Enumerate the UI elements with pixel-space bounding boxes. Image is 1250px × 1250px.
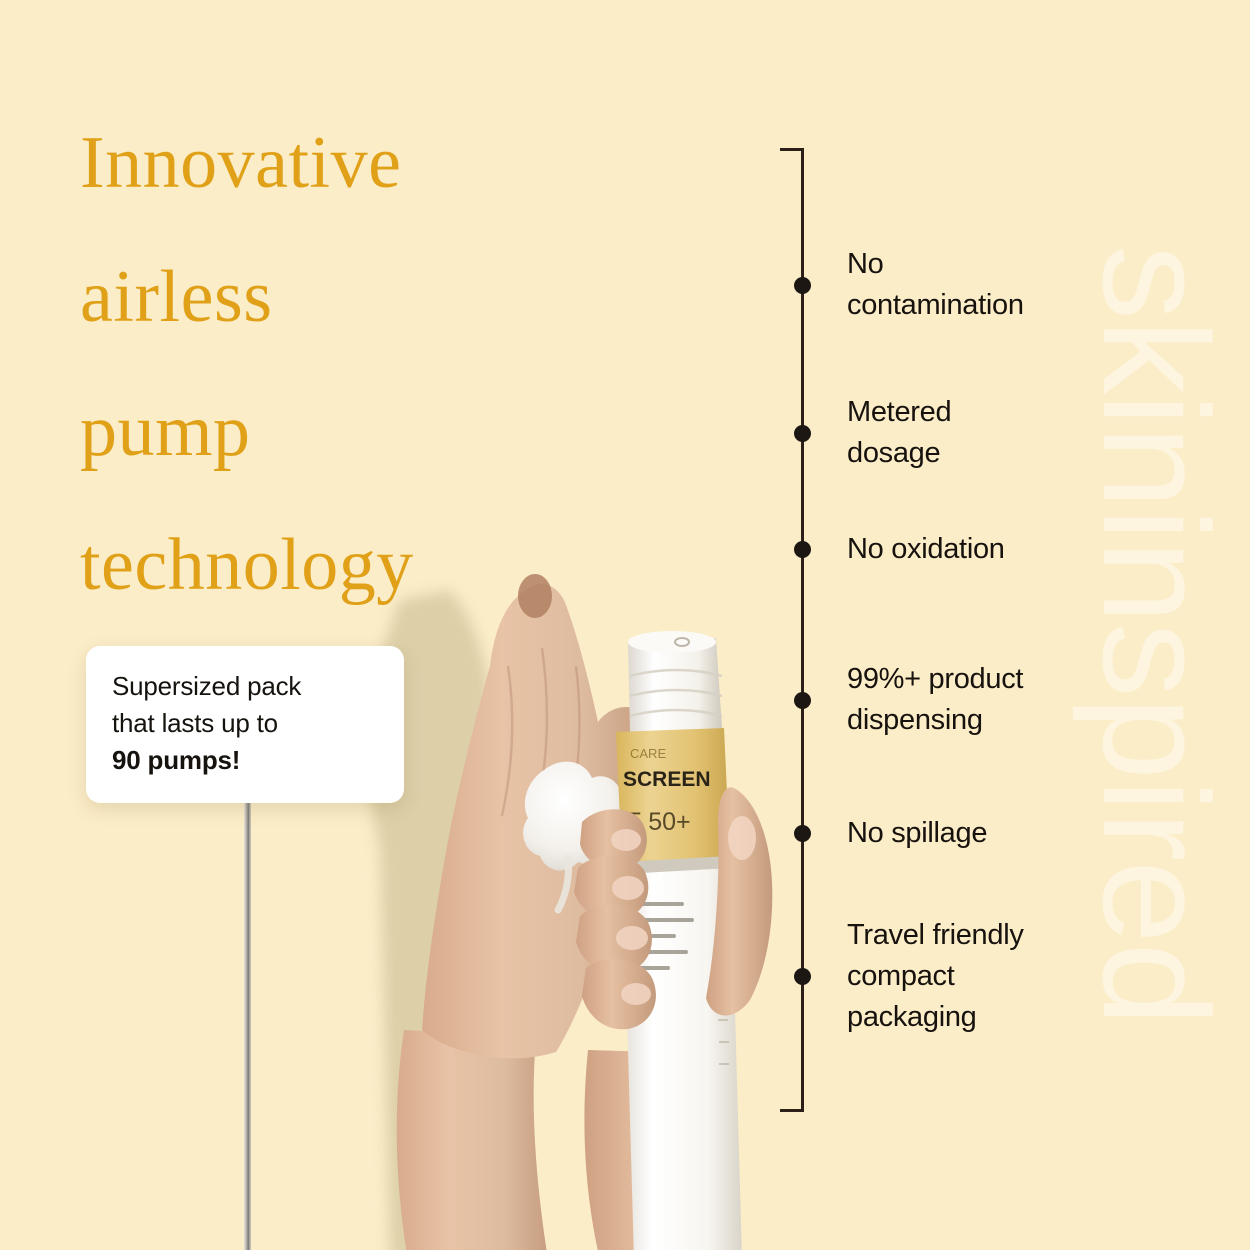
feature-item-no-contamination: No contamination	[780, 244, 1024, 326]
callout-line-1: Supersized pack	[112, 671, 301, 701]
feature-label: 99%+ product dispensing	[847, 659, 1023, 741]
feature-label: No spillage	[847, 813, 987, 854]
thumb-nail	[518, 574, 552, 618]
thumb-nail-right	[728, 816, 756, 860]
left-forearm	[397, 1030, 548, 1250]
callout-text: Supersized pack that lasts up to 90 pump…	[112, 668, 380, 779]
callout-card: Supersized pack that lasts up to 90 pump…	[86, 646, 404, 803]
feature-label: Metered dosage	[847, 392, 951, 474]
feature-label: No contamination	[847, 244, 1024, 326]
bullet-dot-icon	[794, 277, 811, 294]
product-photo: CARE SCREEN F 50+	[330, 470, 850, 1250]
poster-canvas: skininspired Innovative airless pump tec…	[0, 0, 1250, 1250]
bottle-label-line-1: CARE	[630, 746, 666, 761]
feature-item-metered-dosage: Metered dosage	[780, 392, 951, 474]
headline-line-1: Innovative	[80, 96, 640, 230]
callout-pole	[244, 790, 251, 1250]
headline-line-2: airless	[80, 230, 640, 364]
bullet-dot-icon	[794, 425, 811, 442]
callout-line-2: that lasts up to	[112, 708, 278, 738]
feature-label: No oxidation	[847, 529, 1005, 570]
feature-label: Travel friendly compact packaging	[847, 915, 1024, 1038]
callout-highlight: 90 pumps!	[112, 742, 380, 779]
brand-watermark-text: skininspired	[1081, 245, 1231, 1025]
